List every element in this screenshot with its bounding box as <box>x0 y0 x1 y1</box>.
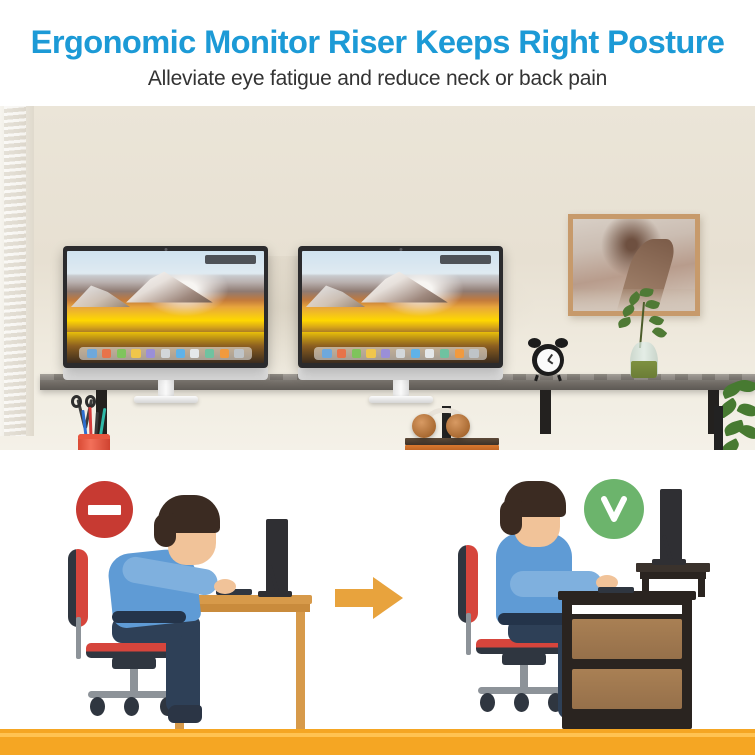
belt <box>498 613 570 625</box>
shoe <box>168 705 202 723</box>
monitor-left <box>63 246 268 403</box>
hair-back <box>154 513 176 547</box>
plant-leaf <box>736 400 755 420</box>
chair-wheel <box>124 697 139 716</box>
monitor-chin <box>298 368 503 380</box>
floor-bar <box>0 729 755 755</box>
wallpaper-peak <box>361 269 448 303</box>
clock-leg <box>557 375 562 382</box>
riser-leg <box>698 579 705 597</box>
alarm-clock <box>528 338 568 378</box>
check-v-icon <box>597 492 631 526</box>
monitor-right <box>298 246 503 403</box>
hand <box>214 579 236 594</box>
monitor-base <box>134 396 198 403</box>
monitor-foot <box>652 559 686 565</box>
product-photo: EPSON THRIFT <box>0 106 755 450</box>
monitor-screen <box>67 251 264 363</box>
wallpaper-peak <box>71 280 130 307</box>
monitor-chin <box>63 368 268 380</box>
wallpaper-peak <box>306 280 365 307</box>
chair-wheel <box>514 693 529 712</box>
chair-hub <box>502 651 546 665</box>
riser-shelf <box>640 571 706 579</box>
cabinet-slot <box>572 605 682 614</box>
chair-back <box>68 549 88 627</box>
product-infographic: Ergonomic Monitor Riser Keeps Right Post… <box>0 0 755 755</box>
screen-dock <box>314 347 487 359</box>
headphone-earcup <box>412 414 436 438</box>
headphones <box>412 408 478 440</box>
shelf-leg <box>714 406 723 450</box>
screen-menubar <box>205 255 256 264</box>
chair-back-post <box>76 617 81 659</box>
clock-face <box>532 344 564 376</box>
chair-back-post <box>466 613 471 655</box>
monitor-screen <box>266 519 288 593</box>
bad-posture-scene <box>18 467 368 729</box>
chair-wheel <box>480 693 495 712</box>
chair-wheel <box>90 697 105 716</box>
monitor-neck <box>158 380 174 396</box>
chair-hub <box>112 655 156 669</box>
monitor-foot <box>258 591 292 597</box>
cabinet-drawer <box>572 669 682 709</box>
cabinet-drawer <box>572 619 682 659</box>
chair-back <box>458 545 478 623</box>
monitor-bezel <box>298 246 503 368</box>
page-subtitle: Alleviate eye fatigue and reduce neck or… <box>0 65 755 93</box>
riser-leg <box>540 390 551 434</box>
page-title: Ergonomic Monitor Riser Keeps Right Post… <box>0 22 755 62</box>
headphone-earcup <box>446 414 470 438</box>
wallpaper-peak <box>126 269 213 303</box>
screen-menubar <box>440 255 491 264</box>
no-entry-bar <box>88 505 121 515</box>
no-entry-icon <box>76 481 133 538</box>
curtain <box>0 106 34 436</box>
monitor-base <box>369 396 433 403</box>
posture-comparison-illustration <box>0 450 755 755</box>
clock-dial <box>537 349 560 372</box>
monitor-screen <box>660 489 682 563</box>
desk-leg <box>296 612 305 729</box>
belt <box>112 611 186 623</box>
good-posture-scene <box>392 467 742 729</box>
plant-vase <box>630 342 658 378</box>
illustration-keyboard <box>598 587 634 593</box>
monitor-screen <box>302 251 499 363</box>
hair-back <box>500 499 522 535</box>
pen-cup <box>78 434 110 450</box>
header-section: Ergonomic Monitor Riser Keeps Right Post… <box>0 0 755 106</box>
check-badge-icon <box>584 479 644 539</box>
monitor-neck <box>393 380 409 396</box>
riser-leg <box>642 579 649 597</box>
screen-dock <box>79 347 252 359</box>
monitor-bezel <box>63 246 268 368</box>
